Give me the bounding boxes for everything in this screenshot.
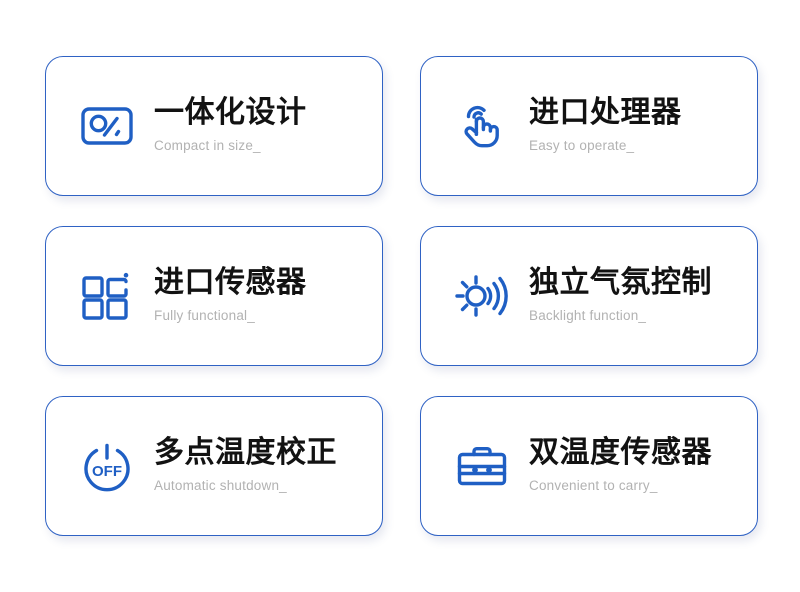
toolbox-icon bbox=[451, 435, 513, 497]
card-text-block: 多点温度校正 Automatic shutdown_ bbox=[154, 436, 337, 497]
card-title: 双温度传感器 bbox=[529, 436, 712, 470]
card-text-block: 进口处理器 Easy to operate_ bbox=[529, 96, 682, 157]
card-subtitle: Backlight function_ bbox=[529, 308, 712, 324]
tap-hand-icon bbox=[451, 95, 513, 157]
card-subtitle: Automatic shutdown_ bbox=[154, 478, 337, 494]
card-title: 进口处理器 bbox=[529, 96, 682, 130]
card-title: 多点温度校正 bbox=[154, 436, 337, 470]
card-title: 一体化设计 bbox=[154, 96, 307, 130]
sun-signal-icon bbox=[451, 265, 513, 327]
card-text-block: 独立气氛控制 Backlight function_ bbox=[529, 266, 712, 327]
svg-text:OFF: OFF bbox=[92, 463, 122, 480]
card-subtitle: Convenient to carry_ bbox=[529, 478, 712, 494]
card-text-block: 双温度传感器 Convenient to carry_ bbox=[529, 436, 712, 497]
card-text-block: 进口传感器 Fully functional_ bbox=[154, 266, 307, 327]
feature-card-fully-functional[interactable]: 进口传感器 Fully functional_ bbox=[45, 226, 383, 366]
power-off-icon: OFF bbox=[76, 435, 138, 497]
card-title: 进口传感器 bbox=[154, 266, 307, 300]
grid-squares-icon bbox=[76, 265, 138, 327]
card-subtitle: Fully functional_ bbox=[154, 308, 307, 324]
feature-card-compact-size[interactable]: 一体化设计 Compact in size_ bbox=[45, 56, 383, 196]
feature-card-automatic-shutdown[interactable]: OFF 多点温度校正 Automatic shutdown_ bbox=[45, 396, 383, 536]
percent-display-icon bbox=[76, 95, 138, 157]
card-subtitle: Easy to operate_ bbox=[529, 138, 682, 154]
feature-card-backlight-function[interactable]: 独立气氛控制 Backlight function_ bbox=[420, 226, 758, 366]
card-title: 独立气氛控制 bbox=[529, 266, 712, 300]
card-text-block: 一体化设计 Compact in size_ bbox=[154, 96, 307, 157]
card-subtitle: Compact in size_ bbox=[154, 138, 307, 154]
feature-card-easy-operate[interactable]: 进口处理器 Easy to operate_ bbox=[420, 56, 758, 196]
feature-card-grid: 一体化设计 Compact in size_ 进口处理器 Easy to ope… bbox=[0, 0, 800, 592]
feature-card-convenient-carry[interactable]: 双温度传感器 Convenient to carry_ bbox=[420, 396, 758, 536]
